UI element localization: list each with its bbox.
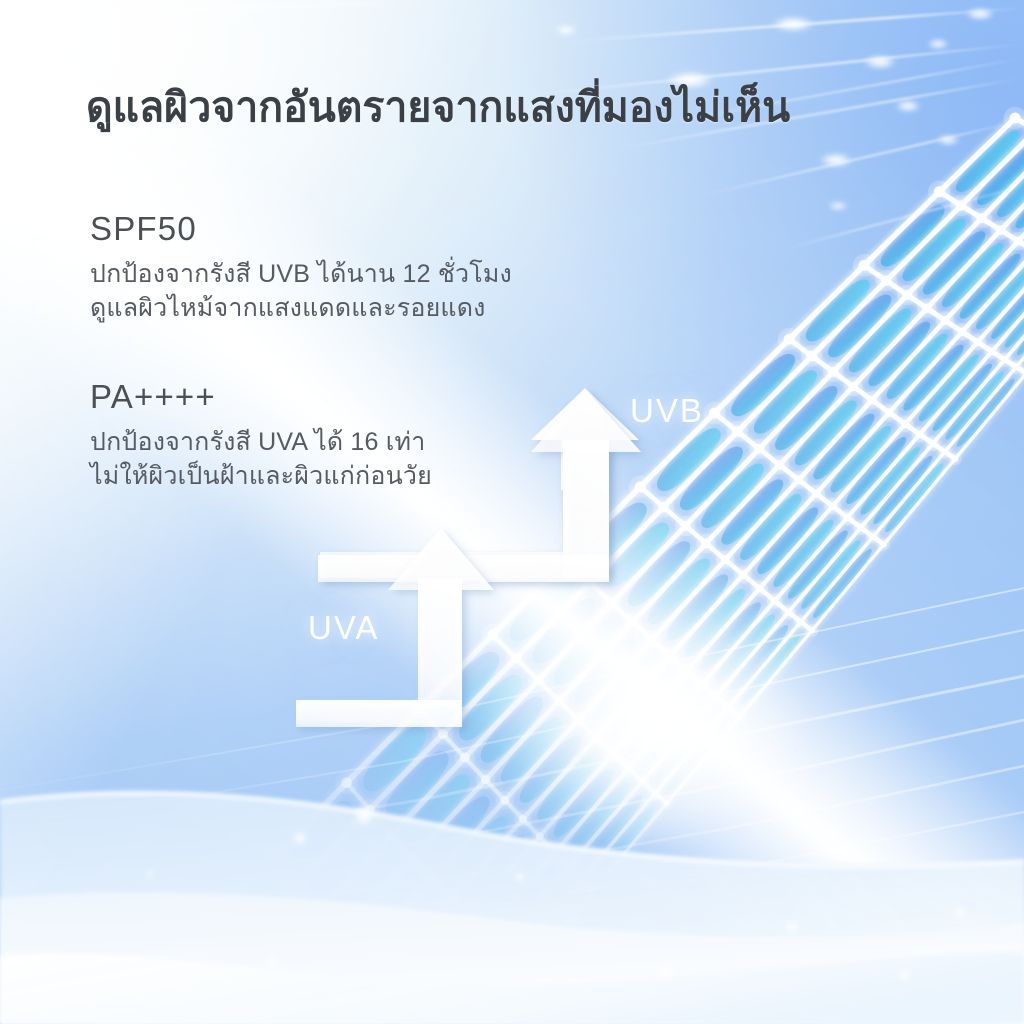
feature-line-pa-2: ไม่ให้ผิวเป็นฝ้าและผิวแก่ก่อนวัย — [90, 459, 432, 494]
feature-line-pa-1: ปกป้องจากรังสี UVA ได้ 16 เท่า — [90, 425, 432, 460]
copy-layer: ดูแลผิวจากอันตรายจากแสงที่มองไม่เห็น SPF… — [0, 0, 1024, 1024]
feature-line-spf-1: ปกป้องจากรังสี UVB ได้นาน 12 ชั่วโมง — [90, 257, 512, 292]
feature-heading-pa: PA++++ — [90, 378, 432, 416]
uva-arrow-label: UVA — [308, 609, 379, 647]
feature-block-spf: SPF50 ปกป้องจากรังสี UVB ได้นาน 12 ชั่วโ… — [90, 210, 512, 326]
feature-line-spf-2: ดูแลผิวไหม้จากแสงแดดและรอยแดง — [90, 291, 512, 326]
feature-block-pa: PA++++ ปกป้องจากรังสี UVA ได้ 16 เท่า ไม… — [90, 378, 432, 494]
uvb-arrow-label: UVB — [630, 392, 704, 430]
infographic-canvas: ดูแลผิวจากอันตรายจากแสงที่มองไม่เห็น SPF… — [0, 0, 1024, 1024]
feature-heading-spf: SPF50 — [90, 210, 512, 248]
page-title: ดูแลผิวจากอันตรายจากแสงที่มองไม่เห็น — [86, 83, 790, 132]
